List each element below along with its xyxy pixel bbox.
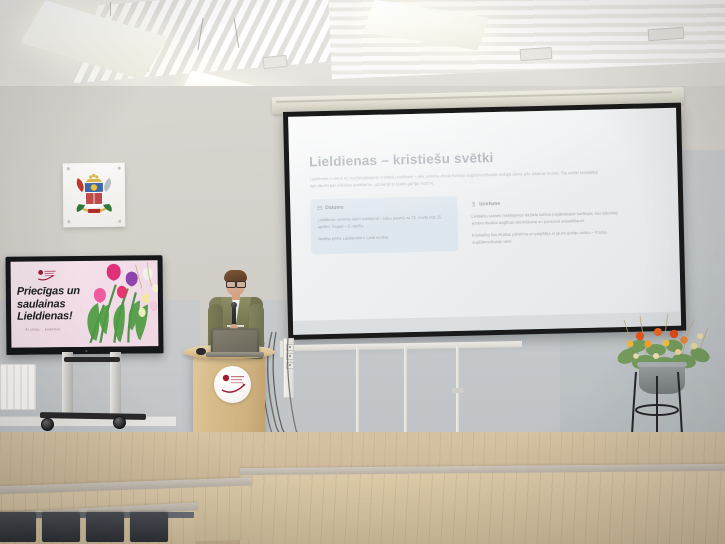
slide-date-box: Datums Lieldienas vienmēr iekrīt svētdie… <box>310 196 458 254</box>
tv-stand-wheel[interactable] <box>41 418 54 431</box>
laptop-screen[interactable] <box>211 328 260 354</box>
wall-radiator <box>0 364 36 410</box>
coat-of-arms-icon <box>63 163 126 228</box>
hourglass-icon <box>471 202 476 207</box>
support-pole <box>356 346 359 438</box>
podium-logo-icon <box>214 366 251 403</box>
slide-title: Lieldienas – kristiešu svētki <box>309 146 663 169</box>
tv-greeting-subtitle: Ar cieņu, ...kolektīvs <box>25 327 60 331</box>
ceiling-vent <box>262 55 287 69</box>
glasses-icon <box>226 281 246 286</box>
audience-chairs <box>0 512 194 544</box>
slide-date-paragraph: Nedēļa pirms Lieldienām ir Lielā nedēļa. <box>318 232 451 242</box>
room-photo-scene: Priecīgas un saulainas Lieldienas! Ar ci… <box>0 0 725 544</box>
slide-origin-heading-label: Izcelsme <box>479 201 500 207</box>
laptop-base[interactable] <box>206 352 264 357</box>
slide-date-heading: Datums <box>317 202 450 211</box>
tv-power-led <box>85 350 87 352</box>
floor-tier <box>240 470 725 544</box>
slide-date-heading-label: Datums <box>325 204 343 210</box>
tv-stand-crossbar <box>64 357 120 362</box>
wall-tv: Priecīgas un saulainas Lieldienas! Ar ci… <box>5 255 163 355</box>
ceiling-vent <box>648 27 685 41</box>
chair[interactable] <box>42 512 80 542</box>
slide-origin-column: Izcelsme Lieldienu saknes meklējamas daž… <box>471 192 620 250</box>
organisation-logo <box>37 269 59 282</box>
chair[interactable] <box>0 512 36 542</box>
tv-screen: Priecīgas un saulainas Lieldienas! Ar ci… <box>11 260 159 348</box>
support-pole <box>404 346 407 438</box>
projection-screen: Lieldienas – kristiešu svētki Lieldienas… <box>283 103 686 340</box>
projection-screen-surface: Lieldienas – kristiešu svētki Lieldienas… <box>288 108 681 335</box>
slide-origin-paragraph: Lieldienu saknes meklējamas dažādu kultū… <box>471 209 619 226</box>
chair[interactable] <box>130 512 168 542</box>
chair[interactable] <box>86 512 124 542</box>
slide-lead-paragraph: Lieldienas ir viens no nozīmīgākajiem kr… <box>310 169 605 190</box>
podium-emblem <box>214 366 251 403</box>
ceiling-projector-mount <box>520 47 553 61</box>
calendar-icon <box>317 205 322 210</box>
slide-origin-heading: Izcelsme <box>471 198 619 207</box>
slide-origin-paragraph: Kristietība šos rituālus pārņēma un piep… <box>472 228 620 245</box>
presenter-mouse[interactable] <box>196 348 206 355</box>
slide-date-paragraph: Lieldienas vienmēr iekrīt svētdienā – la… <box>317 213 450 230</box>
tulip-bouquet-image <box>70 260 159 345</box>
pole-bracket <box>452 388 464 393</box>
lamp-wire <box>110 2 111 16</box>
latvian-coat-of-arms <box>63 163 126 228</box>
presentation-slide: Lieldienas – kristiešu svētki Lieldienas… <box>309 146 667 312</box>
tv-stand-wheel[interactable] <box>113 416 126 429</box>
